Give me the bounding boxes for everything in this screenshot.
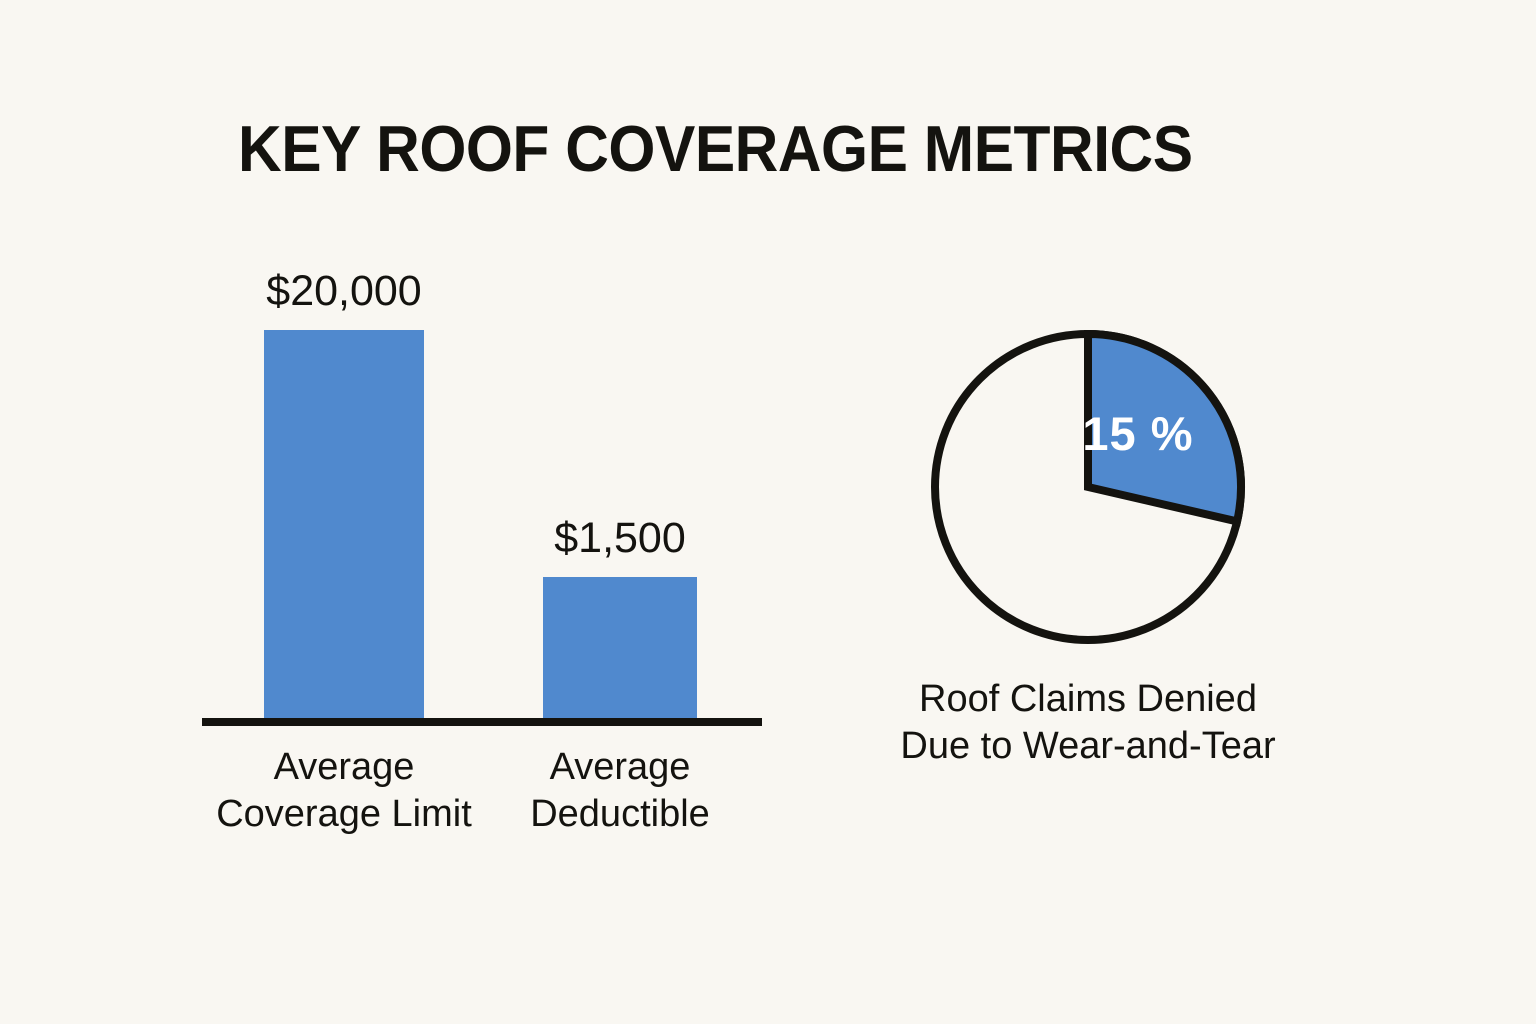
pie-chart-svg — [900, 300, 1300, 700]
bar-deductible — [543, 577, 697, 722]
pie-caption-line2: Due to Wear-and-Tear — [838, 723, 1338, 770]
infographic-canvas: KEY ROOF COVERAGE METRICS $20,000 $1,500… — [0, 0, 1536, 1024]
pie-caption: Roof Claims Denied Due to Wear-and-Tear — [838, 676, 1338, 770]
bar-coverage-limit — [264, 330, 424, 722]
x-axis-line — [202, 718, 762, 726]
bar-chart: $20,000 $1,500 Average Coverage Limit Av… — [0, 0, 820, 900]
bar-category-label-deductible: Average Deductible — [450, 744, 790, 838]
pie-caption-line1: Roof Claims Denied — [838, 676, 1338, 723]
bar-category-label-deductible-line2: Deductible — [450, 791, 790, 838]
pie-chart: 15 % — [900, 300, 1300, 700]
bar-value-label-coverage-limit: $20,000 — [184, 270, 504, 313]
bar-value-label-deductible: $1,500 — [460, 517, 780, 560]
bar-category-label-deductible-line1: Average — [450, 744, 790, 791]
pie-slice-denied — [1088, 334, 1241, 521]
